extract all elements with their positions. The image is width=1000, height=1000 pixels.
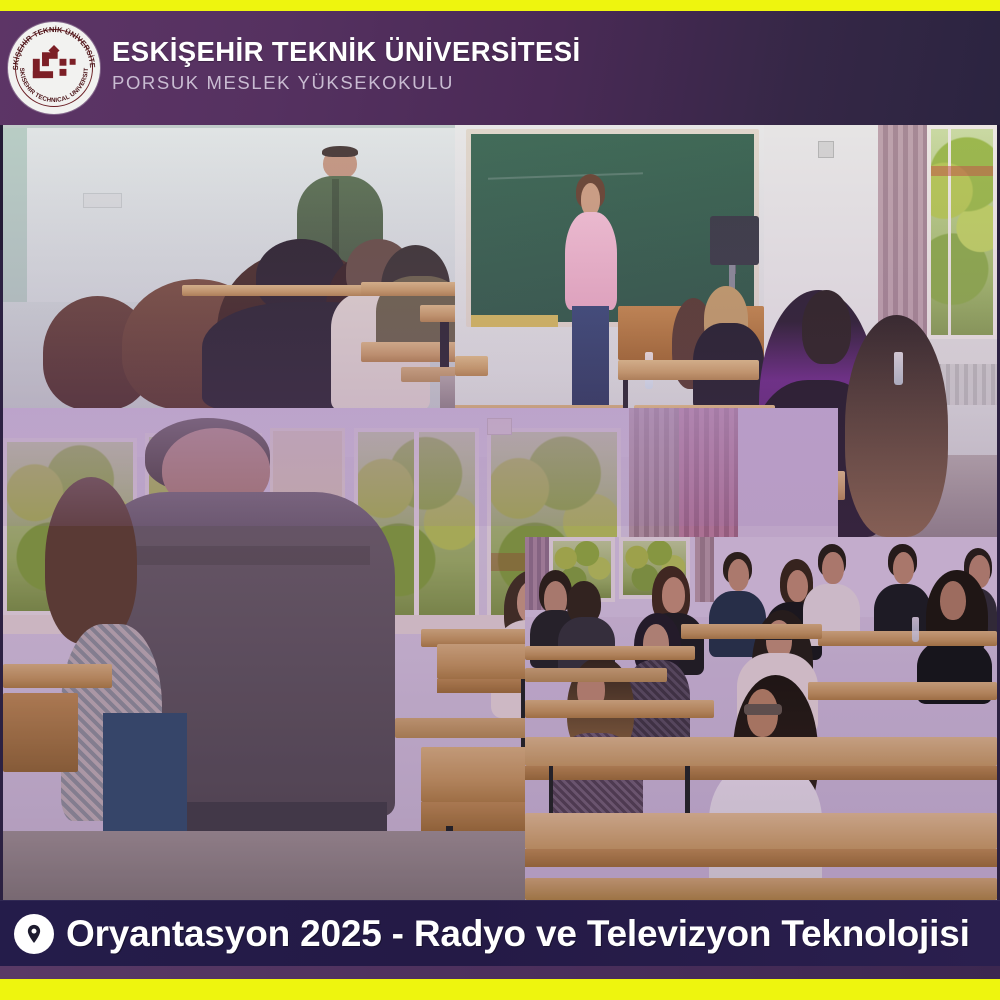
caption-under-strip: [0, 966, 1000, 979]
photo-students-rows: [525, 537, 997, 900]
header-bar: ESKİŞEHİR TEKNİK ÜNİVERSİTESİ ESKISEHIR …: [0, 11, 1000, 125]
caption-title: Oryantasyon 2025 - Radyo ve Televizyon T…: [66, 913, 970, 955]
poster-root: ESKİŞEHİR TEKNİK ÜNİVERSİTESİ ESKISEHIR …: [0, 0, 1000, 1000]
photo-collage: [0, 125, 1000, 900]
scene-students-rows: [525, 537, 997, 900]
university-seal-logo: ESKİŞEHİR TEKNİK ÜNİVERSİTESİ ESKISEHIR …: [8, 22, 100, 114]
top-accent-rule: [0, 0, 1000, 11]
location-pin-icon: [14, 914, 54, 954]
collage-left-edge: [0, 250, 3, 900]
page-subtitle: PORSUK MESLEK YÜKSEKOKULU: [112, 71, 580, 94]
seal-emblem-icon: [31, 45, 77, 91]
bottom-accent-rule: [0, 979, 1000, 1000]
header-titles: ESKİŞEHİR TEKNİK ÜNİVERSİTESİ PORSUK MES…: [112, 38, 580, 98]
page-title: ESKİŞEHİR TEKNİK ÜNİVERSİTESİ: [112, 38, 580, 67]
caption-bar: Oryantasyon 2025 - Radyo ve Televizyon T…: [0, 900, 1000, 966]
